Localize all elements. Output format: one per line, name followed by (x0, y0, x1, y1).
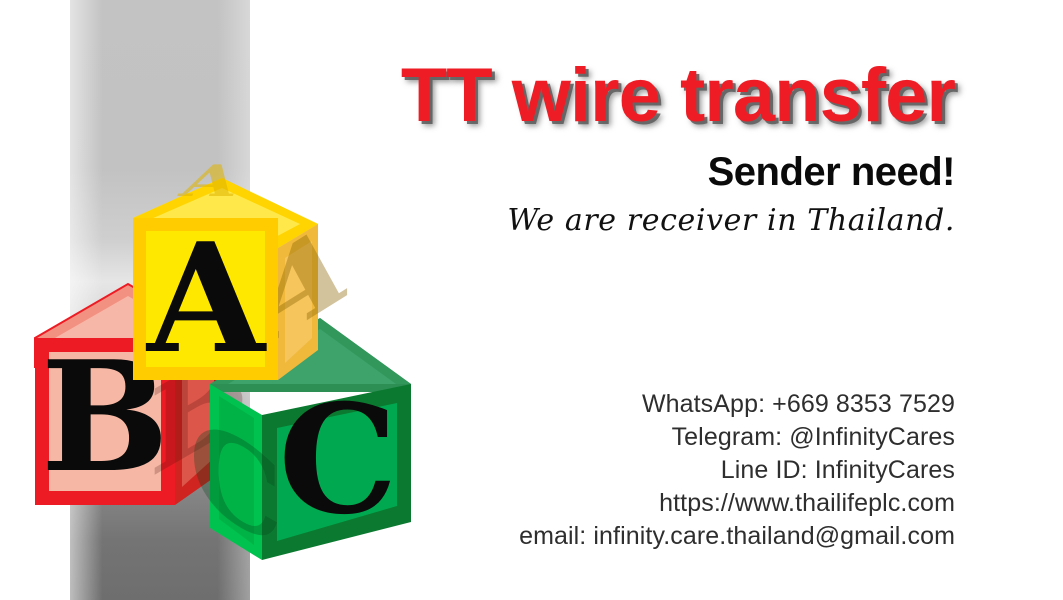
page-title: TT wire transfer (250, 58, 955, 134)
contact-line-website[interactable]: https://www.thailifeplc.com (250, 487, 955, 520)
text-column: TT wire transfer Sender need! We are rec… (250, 0, 955, 600)
contact-line-whatsapp: WhatsApp: +669 8353 7529 (250, 388, 955, 421)
page-subtitle: Sender need! (250, 152, 955, 192)
tagline: We are receiver in Thailand. (250, 203, 955, 239)
promo-card: B B C (0, 0, 1063, 600)
contact-line-email[interactable]: email: infinity.care.thailand@gmail.com (250, 520, 955, 553)
contact-block: WhatsApp: +669 8353 7529 Telegram: @Infi… (250, 388, 955, 553)
contact-line-telegram: Telegram: @InfinityCares (250, 421, 955, 454)
contact-line-lineid: Line ID: InfinityCares (250, 454, 955, 487)
